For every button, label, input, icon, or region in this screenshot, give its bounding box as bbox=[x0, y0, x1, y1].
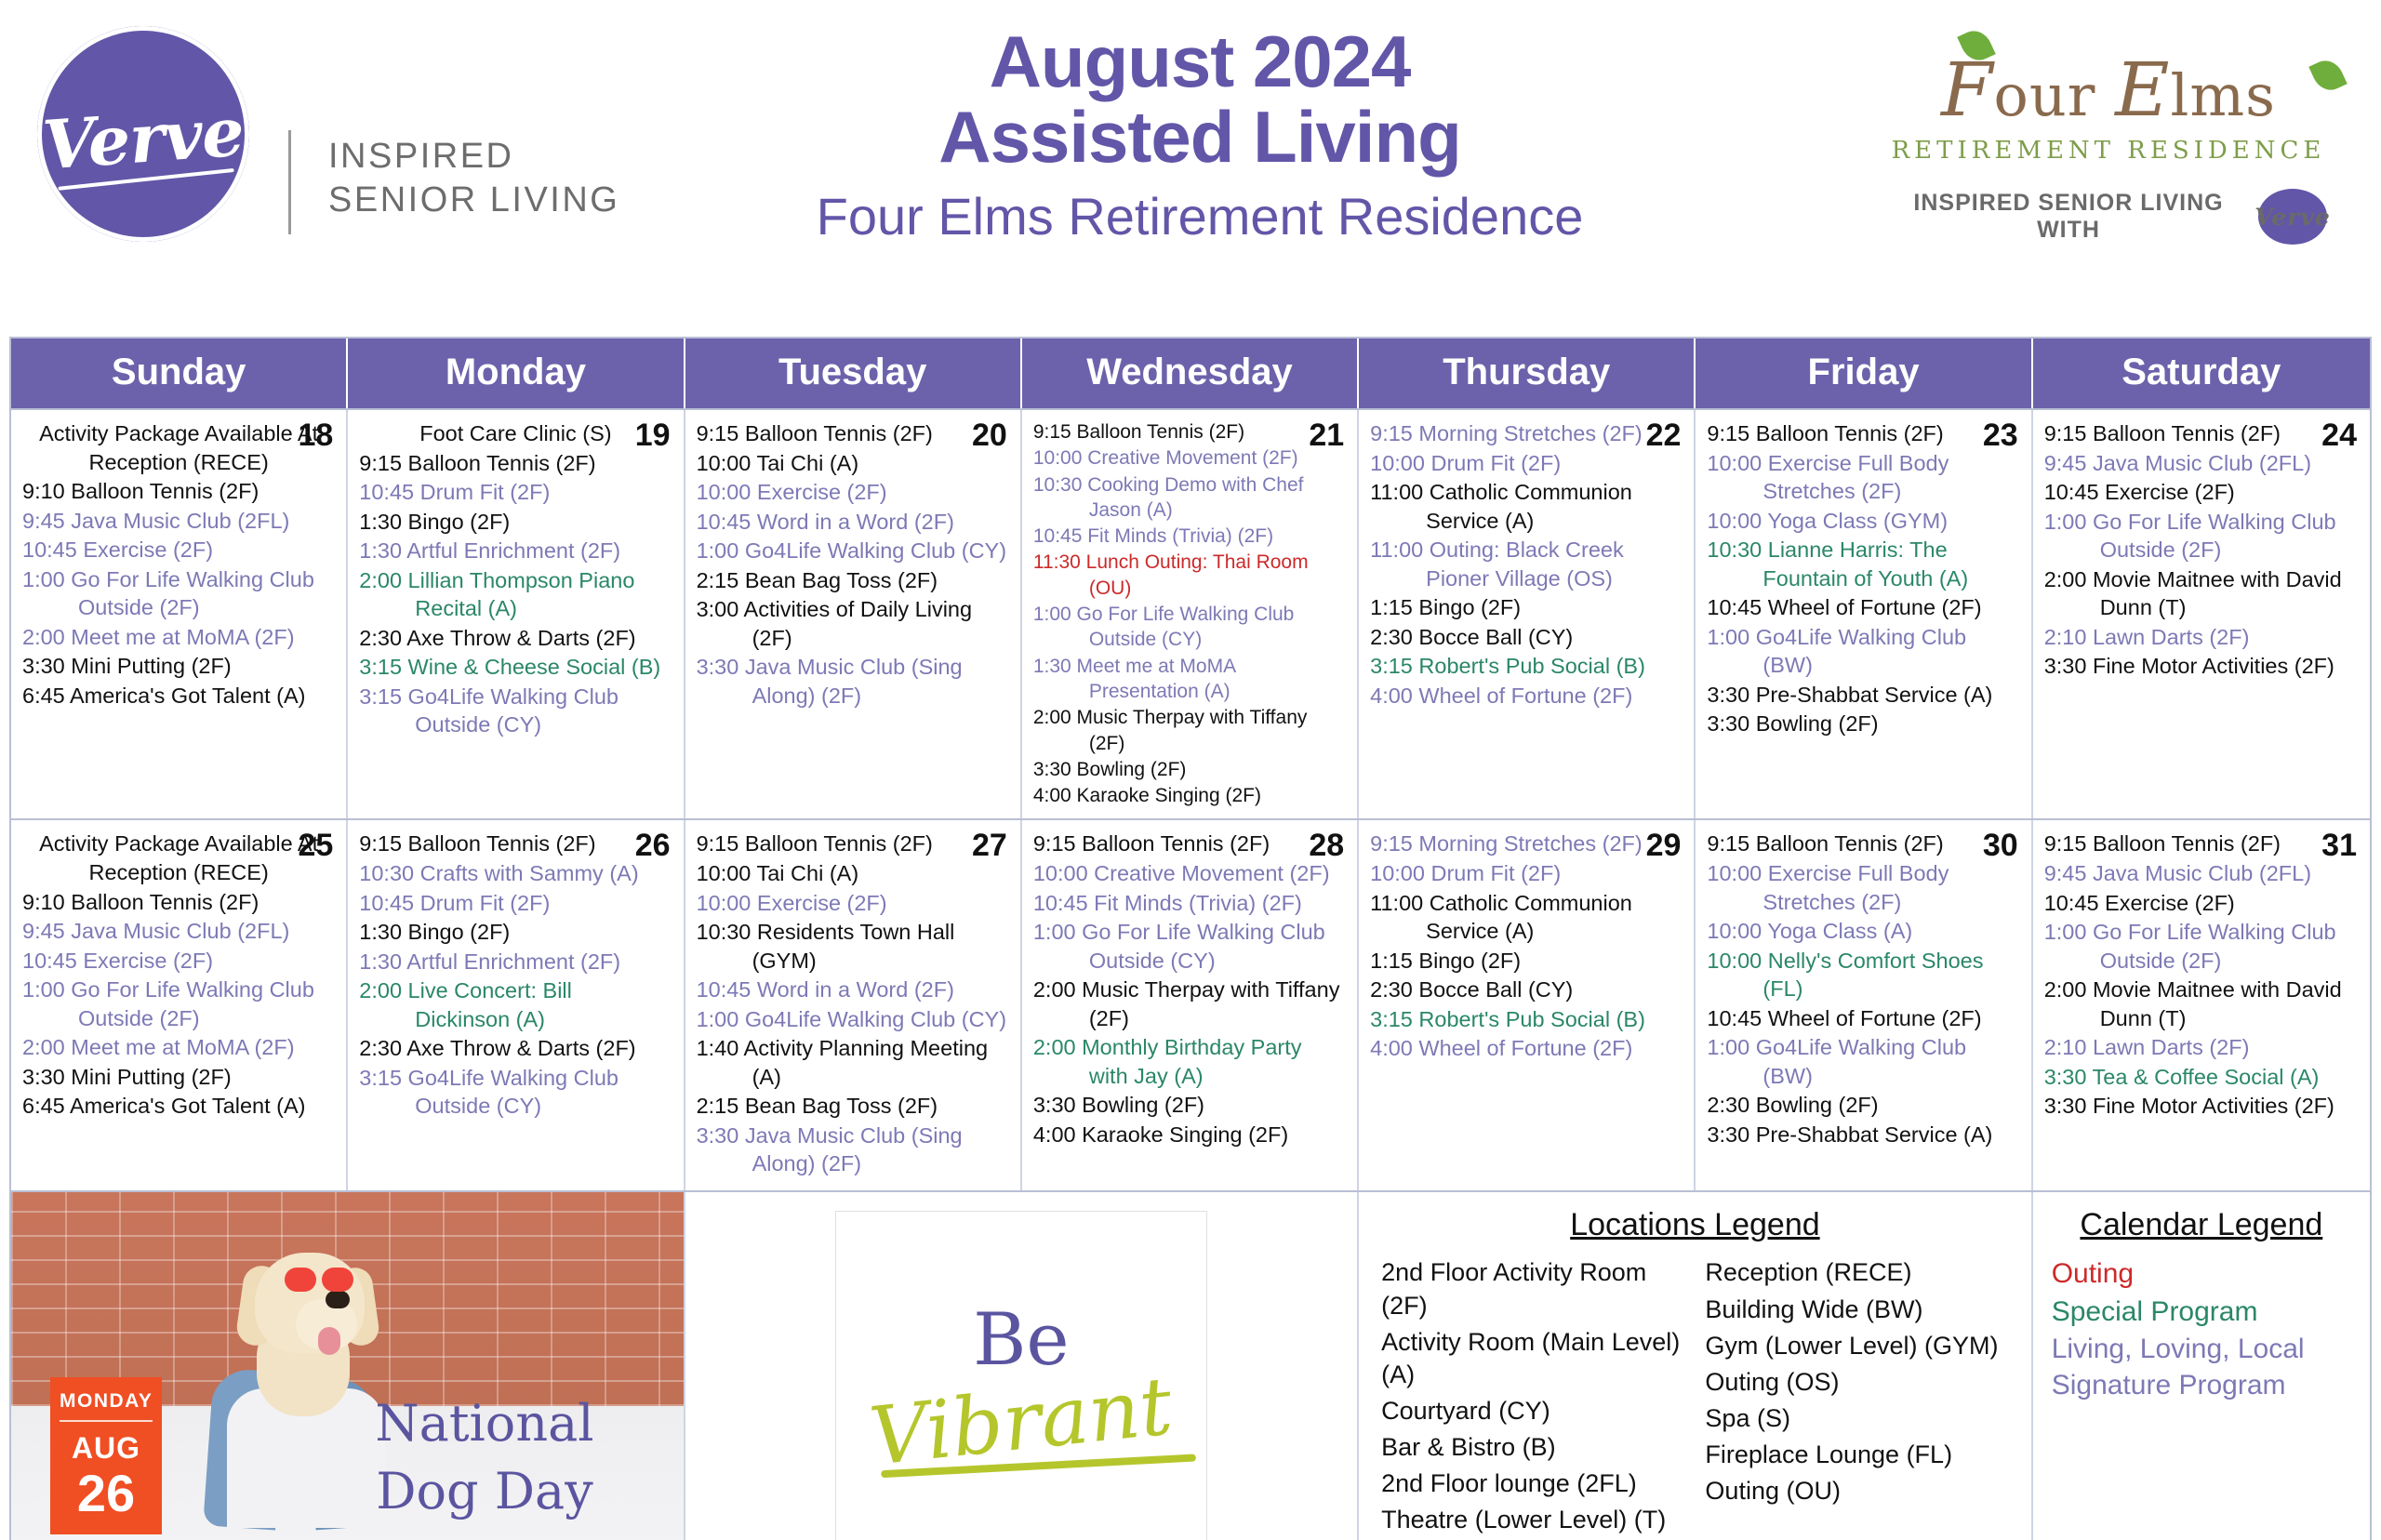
day-number: 26 bbox=[635, 828, 671, 864]
calendar-event[interactable]: 11:00 Catholic Communion Service (A) bbox=[1370, 889, 1683, 946]
calendar-event[interactable]: 9:15 Morning Stretches (2F) bbox=[1370, 830, 1683, 858]
location-legend-item: Outing (OS) bbox=[1705, 1366, 2008, 1399]
calendar-event[interactable]: 3:15 Wine & Cheese Social (B) bbox=[359, 653, 672, 682]
calendar-event[interactable]: 2:30 Axe Throw & Darts (2F) bbox=[359, 1034, 672, 1063]
calendar-event[interactable]: 2:30 Bocce Ball (CY) bbox=[1370, 623, 1683, 652]
be-vibrant-card: Be Vibrant bbox=[835, 1211, 1207, 1540]
calendar-event[interactable]: 1:00 Go4Life Walking Club (BW) bbox=[1707, 623, 2019, 680]
calendar-event[interactable]: 3:30 Bowling (2F) bbox=[1707, 710, 2019, 738]
calendar-event[interactable]: 1:00 Go For Life Walking Club Outside (2… bbox=[22, 565, 335, 622]
badge-day: 26 bbox=[60, 1467, 153, 1520]
dog-nose bbox=[326, 1291, 350, 1308]
four-elms-logo: Four Elms RETIREMENT RESIDENCE INSPIRED … bbox=[1890, 46, 2327, 245]
day-number: 29 bbox=[1646, 828, 1682, 864]
calendar-event[interactable]: 4:00 Wheel of Fortune (2F) bbox=[1370, 1034, 1683, 1063]
calendar-event[interactable]: 9:15 Balloon Tennis (2F) bbox=[1707, 830, 2019, 858]
calendar-event[interactable]: 10:30 Lianne Harris: The Fountain of You… bbox=[1707, 536, 2019, 592]
calendar-event[interactable]: 9:45 Java Music Club (2FL) bbox=[2044, 449, 2359, 478]
calendar-event[interactable]: 10:30 Cooking Demo with Chef Jason (A) bbox=[1033, 472, 1346, 524]
calendar-event[interactable]: 2:00 Monthly Birthday Party with Jay (A) bbox=[1033, 1033, 1346, 1090]
calendar-event[interactable]: 11:00 Outing: Black Creek Pioner Village… bbox=[1370, 536, 1683, 592]
calendar-event[interactable]: 10:00 Exercise Full Body Stretches (2F) bbox=[1707, 449, 2019, 506]
calendar-legend-title: Calendar Legend bbox=[2052, 1207, 2351, 1243]
verve-mini-icon: Verve bbox=[2258, 189, 2327, 245]
promo-title: National Dog Day bbox=[375, 1390, 593, 1526]
location-legend-item: Gym (Lower Level) (GYM) bbox=[1705, 1330, 2008, 1362]
four-elms-lms: lms bbox=[2171, 61, 2276, 129]
be-vibrant-panel: Be Vibrant bbox=[685, 1192, 1360, 1540]
calendar-day-cell[interactable]: 19Foot Care Clinic (S)9:15 Balloon Tenni… bbox=[348, 410, 685, 818]
calendar-footer-row: MONDAY AUG 26 National Dog Day Be Vibran… bbox=[11, 1190, 2370, 1540]
calendar-event[interactable]: 10:45 Fit Minds (Trivia) (2F) bbox=[1033, 889, 1346, 918]
location-legend-item: Reception (RECE) bbox=[1705, 1256, 2008, 1289]
day-number: 27 bbox=[972, 828, 1007, 864]
calendar-event[interactable]: 9:45 Java Music Club (2FL) bbox=[22, 507, 335, 536]
calendar-event[interactable]: 3:30 Mini Putting (2F) bbox=[22, 652, 335, 681]
promo-date-badge: MONDAY AUG 26 bbox=[50, 1377, 162, 1534]
verve-tagline-line1: INSPIRED bbox=[328, 135, 619, 179]
calendar-event[interactable]: 10:00 Drum Fit (2F) bbox=[1370, 449, 1683, 478]
calendar-event[interactable]: 2:30 Bowling (2F) bbox=[1707, 1091, 2019, 1120]
calendar-day-cell[interactable]: 18Activity Package Available At Receptio… bbox=[11, 410, 348, 818]
calendar-event[interactable]: Activity Package Available At Reception … bbox=[22, 419, 335, 476]
calendar-day-cell[interactable]: 249:15 Balloon Tennis (2F)9:45 Java Musi… bbox=[2033, 410, 2370, 818]
calendar-event[interactable]: 3:30 Tea & Coffee Social (A) bbox=[2044, 1063, 2359, 1092]
calendar-event[interactable]: 1:30 Artful Enrichment (2F) bbox=[359, 948, 672, 976]
calendar-event[interactable]: 10:45 Word in a Word (2F) bbox=[697, 976, 1009, 1004]
calendar-event[interactable]: 10:30 Crafts with Sammy (A) bbox=[359, 859, 672, 888]
calendar-week-row: 25Activity Package Available At Receptio… bbox=[11, 818, 2370, 1190]
be-vibrant-line2: Vibrant bbox=[866, 1367, 1176, 1479]
calendar-event[interactable]: 10:00 Creative Movement (2F) bbox=[1033, 859, 1346, 888]
day-number: 21 bbox=[1309, 418, 1344, 454]
calendar-event[interactable]: 3:30 Java Music Club (Sing Along) (2F) bbox=[697, 653, 1009, 710]
location-legend-item: Fireplace Lounge (FL) bbox=[1705, 1439, 2008, 1471]
dow-tuesday: Tuesday bbox=[685, 339, 1022, 408]
four-elms-inspired-text: INSPIRED SENIOR LIVING WITH bbox=[1890, 190, 2247, 244]
calendar-event[interactable]: 10:45 Exercise (2F) bbox=[22, 947, 335, 976]
calendar-day-cell[interactable]: 25Activity Package Available At Receptio… bbox=[11, 820, 348, 1190]
calendar-event[interactable]: 10:45 Exercise (2F) bbox=[2044, 478, 2359, 507]
calendar-event[interactable]: 10:45 Drum Fit (2F) bbox=[359, 478, 672, 507]
calendar-event[interactable]: 10:00 Tai Chi (A) bbox=[697, 859, 1009, 888]
calendar-weeks: 18Activity Package Available At Receptio… bbox=[11, 408, 2370, 1190]
calendar-day-cell[interactable]: 299:15 Morning Stretches (2F)10:00 Drum … bbox=[1359, 820, 1696, 1190]
calendar-week-row: 18Activity Package Available At Receptio… bbox=[11, 408, 2370, 818]
calendar-event[interactable]: 2:00 Movie Maitnee with David Dunn (T) bbox=[2044, 565, 2359, 622]
calendar-event[interactable]: 9:15 Balloon Tennis (2F) bbox=[1033, 419, 1346, 445]
day-number: 25 bbox=[298, 828, 333, 864]
calendar-event[interactable]: 9:15 Balloon Tennis (2F) bbox=[2044, 830, 2359, 858]
calendar-day-cell[interactable]: 219:15 Balloon Tennis (2F)10:00 Creative… bbox=[1022, 410, 1359, 818]
calendar-event[interactable]: 3:30 Pre-Shabbat Service (A) bbox=[1707, 1121, 2019, 1149]
calendar-event[interactable]: 1:30 Artful Enrichment (2F) bbox=[359, 537, 672, 565]
verve-oval-icon: Verve bbox=[37, 26, 249, 242]
verve-tagline: INSPIRED SENIOR LIVING bbox=[328, 135, 619, 223]
promo-panel: MONDAY AUG 26 National Dog Day bbox=[11, 1192, 685, 1540]
calendar-event[interactable]: 9:15 Balloon Tennis (2F) bbox=[2044, 419, 2359, 448]
dow-thursday: Thursday bbox=[1359, 339, 1696, 408]
four-elms-our: our bbox=[1994, 61, 2096, 129]
calendar-page: Verve INSPIRED SENIOR LIVING August 2024… bbox=[0, 0, 2381, 1540]
calendar-event[interactable]: 3:30 Pre-Shabbat Service (A) bbox=[1707, 681, 2019, 710]
calendar-event[interactable]: Activity Package Available At Reception … bbox=[22, 830, 335, 886]
location-legend-item: Courtyard (CY) bbox=[1381, 1395, 1684, 1427]
day-number: 23 bbox=[1983, 418, 2018, 454]
verve-wordmark: Verve bbox=[40, 91, 246, 184]
day-number: 20 bbox=[972, 418, 1007, 454]
calendar-event[interactable]: 1:00 Go4Life Walking Club (CY) bbox=[697, 537, 1009, 565]
calendar-grid: Sunday Monday Tuesday Wednesday Thursday… bbox=[9, 337, 2372, 1540]
calendar-event[interactable]: 1:30 Bingo (2F) bbox=[359, 918, 672, 947]
calendar-event[interactable]: 4:00 Wheel of Fortune (2F) bbox=[1370, 682, 1683, 710]
dow-friday: Friday bbox=[1696, 339, 2032, 408]
location-legend-item: Theatre (Lower Level) (T) bbox=[1381, 1504, 1684, 1536]
calendar-event[interactable]: 9:15 Balloon Tennis (2F) bbox=[697, 830, 1009, 858]
dog-tongue bbox=[318, 1327, 340, 1355]
calendar-event[interactable]: 3:15 Robert's Pub Social (B) bbox=[1370, 1005, 1683, 1034]
promo-title-line2: Dog Day bbox=[375, 1458, 593, 1526]
dow-sunday: Sunday bbox=[11, 339, 348, 408]
day-of-week-header: Sunday Monday Tuesday Wednesday Thursday… bbox=[11, 339, 2370, 408]
calendar-event[interactable]: 2:30 Axe Throw & Darts (2F) bbox=[359, 624, 672, 653]
calendar-event[interactable]: 3:30 Fine Motor Activities (2F) bbox=[2044, 652, 2359, 681]
calendar-event[interactable]: 6:45 America's Got Talent (A) bbox=[22, 1092, 335, 1121]
calendar-event[interactable]: 10:00 Nelly's Comfort Shoes (FL) bbox=[1707, 947, 2019, 1003]
calendar-event[interactable]: 1:00 Go For Life Walking Club Outside (C… bbox=[1033, 602, 1346, 653]
calendar-event[interactable]: 4:00 Karaoke Singing (2F) bbox=[1033, 783, 1346, 808]
location-legend-item: Bar & Bistro (B) bbox=[1381, 1431, 1684, 1464]
calendar-event[interactable]: 2:00 Music Therpay with Tiffany (2F) bbox=[1033, 705, 1346, 756]
title-month: August 2024 bbox=[642, 24, 1758, 100]
verve-tagline-line2: SENIOR LIVING bbox=[328, 179, 619, 223]
day-number: 31 bbox=[2321, 828, 2357, 864]
calendar-legend-item: Outing bbox=[2052, 1256, 2351, 1292]
badge-day-of-week: MONDAY bbox=[60, 1390, 153, 1422]
calendar-event[interactable]: 3:30 Fine Motor Activities (2F) bbox=[2044, 1092, 2359, 1121]
location-legend-item: Building Wide (BW) bbox=[1705, 1294, 2008, 1326]
calendar-event[interactable]: 3:15 Robert's Pub Social (B) bbox=[1370, 652, 1683, 681]
locations-legend-right-col: Reception (RECE)Building Wide (BW)Gym (L… bbox=[1705, 1256, 2008, 1540]
calendar-event[interactable]: 10:45 Wheel of Fortune (2F) bbox=[1707, 1004, 2019, 1033]
badge-month: AUG bbox=[60, 1431, 153, 1466]
location-legend-item: Outing (OU) bbox=[1705, 1475, 2008, 1507]
calendar-day-cell[interactable]: 209:15 Balloon Tennis (2F)10:00 Tai Chi … bbox=[685, 410, 1022, 818]
calendar-event[interactable]: 9:10 Balloon Tennis (2F) bbox=[22, 477, 335, 506]
calendar-event[interactable]: 2:10 Lawn Darts (2F) bbox=[2044, 1033, 2359, 1062]
day-number: 18 bbox=[298, 418, 333, 454]
calendar-event[interactable]: 2:00 Music Therpay with Tiffany (2F) bbox=[1033, 976, 1346, 1032]
calendar-event[interactable]: 1:15 Bingo (2F) bbox=[1370, 947, 1683, 976]
calendar-event[interactable]: 3:15 Go4Life Walking Club Outside (CY) bbox=[359, 1064, 672, 1121]
four-elms-wordmark: Four Elms bbox=[1890, 46, 2327, 133]
dow-monday: Monday bbox=[348, 339, 685, 408]
calendar-event[interactable]: 1:30 Bingo (2F) bbox=[359, 508, 672, 537]
location-legend-item: 2nd Floor lounge (2FL) bbox=[1381, 1467, 1684, 1500]
calendar-event[interactable]: 10:00 Exercise (2F) bbox=[697, 889, 1009, 918]
sunglasses-left-lens-icon bbox=[285, 1268, 316, 1292]
calendar-event[interactable]: 2:00 Live Concert: Bill Dickinson (A) bbox=[359, 976, 672, 1033]
calendar-event[interactable]: 6:45 America's Got Talent (A) bbox=[22, 682, 335, 710]
calendar-day-cell[interactable]: 229:15 Morning Stretches (2F)10:00 Drum … bbox=[1359, 410, 1696, 818]
calendar-event[interactable]: 10:00 Exercise Full Body Stretches (2F) bbox=[1707, 859, 2019, 916]
calendar-event[interactable]: 1:00 Go4Life Walking Club (CY) bbox=[697, 1005, 1009, 1034]
four-elms-inspired-row: INSPIRED SENIOR LIVING WITH Verve bbox=[1890, 189, 2327, 245]
calendar-event[interactable]: 10:00 Yoga Class (GYM) bbox=[1707, 507, 2019, 536]
calendar-event[interactable]: 1:15 Bingo (2F) bbox=[1370, 593, 1683, 622]
calendar-event[interactable]: 1:30 Meet me at MoMA Presentation (A) bbox=[1033, 654, 1346, 705]
calendar-event[interactable]: 9:15 Balloon Tennis (2F) bbox=[697, 419, 1009, 448]
page-header: Verve INSPIRED SENIOR LIVING August 2024… bbox=[0, 0, 2381, 337]
calendar-event[interactable]: 2:30 Bocce Ball (CY) bbox=[1370, 976, 1683, 1004]
verve-logo: Verve INSPIRED SENIOR LIVING bbox=[37, 26, 619, 242]
calendar-event[interactable]: 2:15 Bean Bag Toss (2F) bbox=[697, 566, 1009, 595]
location-legend-item: 2nd Floor Activity Room (2F) bbox=[1381, 1256, 1684, 1321]
calendar-legend-items: OutingSpecial ProgramLiving, Loving, Loc… bbox=[2052, 1256, 2351, 1403]
calendar-event[interactable]: 1:00 Go For Life Walking Club Outside (2… bbox=[22, 976, 335, 1032]
calendar-legend: Calendar Legend OutingSpecial ProgramLiv… bbox=[2033, 1192, 2370, 1540]
day-number: 22 bbox=[1646, 418, 1682, 454]
calendar-event[interactable]: 10:45 Exercise (2F) bbox=[2044, 889, 2359, 918]
calendar-legend-item: Living, Loving, Local Signature Program bbox=[2052, 1332, 2351, 1403]
calendar-day-cell[interactable]: 289:15 Balloon Tennis (2F)10:00 Creative… bbox=[1022, 820, 1359, 1190]
location-legend-item: Spa (S) bbox=[1705, 1402, 2008, 1435]
location-legend-item: Activity Room (Main Level) (A) bbox=[1381, 1326, 1684, 1391]
title-residence: Four Elms Retirement Residence bbox=[642, 184, 1758, 249]
calendar-day-cell[interactable]: 319:15 Balloon Tennis (2F)9:45 Java Musi… bbox=[2033, 820, 2370, 1190]
calendar-event[interactable]: 9:10 Balloon Tennis (2F) bbox=[22, 888, 335, 917]
calendar-event[interactable]: 9:15 Balloon Tennis (2F) bbox=[359, 830, 672, 858]
calendar-event[interactable]: 10:45 Exercise (2F) bbox=[22, 536, 335, 564]
leaf-icon bbox=[2308, 55, 2348, 95]
locations-legend-title: Locations Legend bbox=[1381, 1207, 2009, 1243]
calendar-event[interactable]: 10:00 Yoga Class (A) bbox=[1707, 917, 2019, 946]
calendar-event[interactable]: 9:15 Balloon Tennis (2F) bbox=[359, 449, 672, 478]
calendar-event[interactable]: 9:15 Balloon Tennis (2F) bbox=[1033, 830, 1346, 858]
calendar-event[interactable]: 1:00 Go4Life Walking Club (BW) bbox=[1707, 1033, 2019, 1090]
calendar-event[interactable]: 3:15 Go4Life Walking Club Outside (CY) bbox=[359, 683, 672, 739]
calendar-event[interactable]: 3:00 Activities of Daily Living (2F) bbox=[697, 595, 1009, 652]
calendar-event[interactable]: 10:00 Tai Chi (A) bbox=[697, 449, 1009, 478]
dow-wednesday: Wednesday bbox=[1022, 339, 1359, 408]
calendar-event[interactable]: 10:45 Drum Fit (2F) bbox=[359, 889, 672, 918]
calendar-event[interactable]: 1:00 Go For Life Walking Club Outside (2… bbox=[2044, 918, 2359, 975]
locations-legend-columns: 2nd Floor Activity Room (2F)Activity Roo… bbox=[1381, 1256, 2009, 1540]
four-elms-f: F bbox=[1941, 46, 1994, 133]
calendar-event[interactable]: 1:40 Activity Planning Meeting (A) bbox=[697, 1034, 1009, 1091]
calendar-event[interactable]: 10:00 Exercise (2F) bbox=[697, 478, 1009, 507]
calendar-event[interactable]: 2:10 Lawn Darts (2F) bbox=[2044, 623, 2359, 652]
calendar-event[interactable]: 10:45 Fit Minds (Trivia) (2F) bbox=[1033, 524, 1346, 549]
calendar-event[interactable]: 4:00 Karaoke Singing (2F) bbox=[1033, 1121, 1346, 1149]
day-number: 30 bbox=[1983, 828, 2018, 864]
title-care-level: Assisted Living bbox=[642, 100, 1758, 175]
calendar-event[interactable]: 11:00 Catholic Communion Service (A) bbox=[1370, 478, 1683, 535]
calendar-event[interactable]: 9:15 Balloon Tennis (2F) bbox=[1707, 419, 2019, 448]
calendar-day-cell[interactable]: 269:15 Balloon Tennis (2F)10:30 Crafts w… bbox=[348, 820, 685, 1190]
calendar-event[interactable]: 1:00 Go For Life Walking Club Outside (C… bbox=[1033, 918, 1346, 975]
day-number: 19 bbox=[635, 418, 671, 454]
calendar-event[interactable]: Foot Care Clinic (S) bbox=[359, 419, 672, 448]
calendar-event[interactable]: 3:30 Mini Putting (2F) bbox=[22, 1063, 335, 1092]
four-elms-e: E bbox=[2115, 46, 2170, 133]
calendar-event[interactable]: 3:30 Java Music Club (Sing Along) (2F) bbox=[697, 1122, 1009, 1178]
page-title: August 2024 Assisted Living Four Elms Re… bbox=[642, 24, 1758, 249]
dow-saturday: Saturday bbox=[2033, 339, 2370, 408]
calendar-event[interactable]: 10:30 Residents Town Hall (GYM) bbox=[697, 918, 1009, 975]
promo-title-line1: National bbox=[375, 1390, 593, 1458]
calendar-event[interactable]: 9:45 Java Music Club (2FL) bbox=[22, 917, 335, 946]
logo-divider bbox=[288, 130, 291, 234]
calendar-event[interactable]: 2:00 Meet me at MoMA (2F) bbox=[22, 1033, 335, 1062]
day-number: 28 bbox=[1309, 828, 1344, 864]
calendar-event[interactable]: 10:00 Drum Fit (2F) bbox=[1370, 859, 1683, 888]
calendar-event[interactable]: 10:45 Word in a Word (2F) bbox=[697, 508, 1009, 537]
be-vibrant-line1: Be bbox=[973, 1304, 1069, 1376]
calendar-event[interactable]: 1:00 Go For Life Walking Club Outside (2… bbox=[2044, 508, 2359, 564]
four-elms-subtitle: RETIREMENT RESIDENCE bbox=[1890, 137, 2327, 165]
calendar-day-cell[interactable]: 239:15 Balloon Tennis (2F)10:00 Exercise… bbox=[1696, 410, 2032, 818]
calendar-legend-item: Special Program bbox=[2052, 1294, 2351, 1330]
day-number: 24 bbox=[2321, 418, 2357, 454]
calendar-event[interactable]: 9:15 Morning Stretches (2F) bbox=[1370, 419, 1683, 448]
calendar-event[interactable]: 3:30 Bowling (2F) bbox=[1033, 1091, 1346, 1120]
calendar-day-cell[interactable]: 279:15 Balloon Tennis (2F)10:00 Tai Chi … bbox=[685, 820, 1022, 1190]
locations-legend: Locations Legend 2nd Floor Activity Room… bbox=[1359, 1192, 2033, 1540]
calendar-event[interactable]: 11:30 Lunch Outing: Thai Room (OU) bbox=[1033, 550, 1346, 601]
calendar-event[interactable]: 2:00 Movie Maitnee with David Dunn (T) bbox=[2044, 976, 2359, 1032]
calendar-event[interactable]: 2:00 Meet me at MoMA (2F) bbox=[22, 623, 335, 652]
sunglasses-right-lens-icon bbox=[322, 1268, 353, 1292]
calendar-event[interactable]: 10:00 Creative Movement (2F) bbox=[1033, 445, 1346, 471]
calendar-event[interactable]: 2:15 Bean Bag Toss (2F) bbox=[697, 1092, 1009, 1121]
calendar-event[interactable]: 9:45 Java Music Club (2FL) bbox=[2044, 859, 2359, 888]
calendar-event[interactable]: 3:30 Bowling (2F) bbox=[1033, 757, 1346, 782]
locations-legend-left-col: 2nd Floor Activity Room (2F)Activity Roo… bbox=[1381, 1256, 1684, 1540]
calendar-event[interactable]: 2:00 Lillian Thompson Piano Recital (A) bbox=[359, 566, 672, 623]
calendar-event[interactable]: 10:45 Wheel of Fortune (2F) bbox=[1707, 593, 2019, 622]
calendar-day-cell[interactable]: 309:15 Balloon Tennis (2F)10:00 Exercise… bbox=[1696, 820, 2032, 1190]
